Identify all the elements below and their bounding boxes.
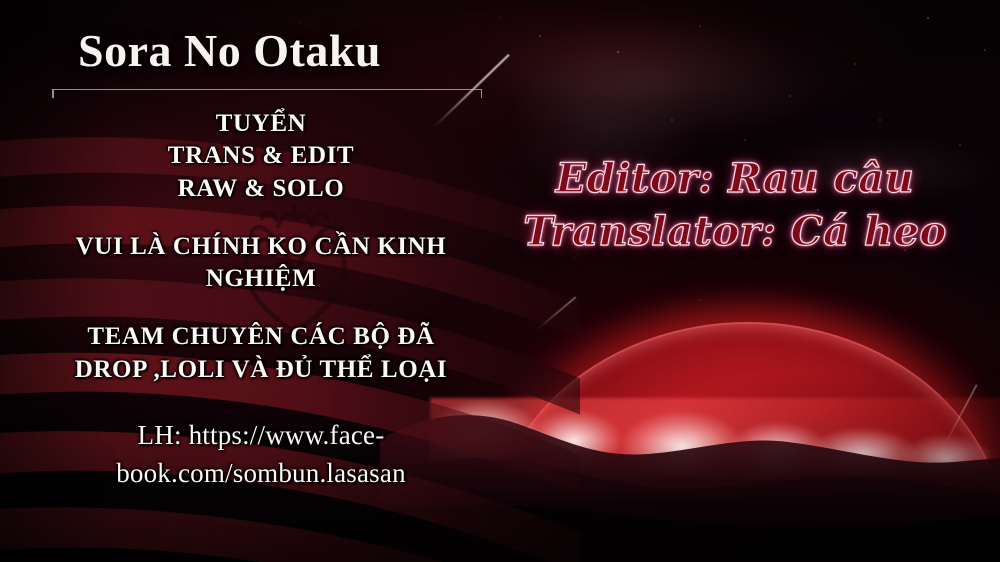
credits-banner: Sora No Otaku TUYỂN TRANS & EDIT RAW & S… (0, 0, 1000, 562)
title-divider (52, 89, 482, 98)
recruitment-group-specialty: TEAM CHUYÊN CÁC BỘ ĐÃ DROP ,LOLI VÀ ĐỦ T… (28, 321, 494, 386)
recruit-line-6: TEAM CHUYÊN CÁC BỘ ĐÃ (28, 321, 494, 353)
contact-line-1: LH: https://www.face- (28, 416, 494, 454)
contact-link[interactable]: LH: https://www.face- book.com/sombun.la… (28, 416, 494, 493)
recruit-line-4: VUI LÀ CHÍNH KO CẦN KINH (28, 231, 494, 263)
recruit-line-2: TRANS & EDIT (28, 140, 494, 172)
contact-line-2: book.com/sombun.lasasan (28, 454, 494, 492)
recruitment-group-roles: TUYỂN TRANS & EDIT RAW & SOLO (28, 108, 494, 205)
recruit-line-1: TUYỂN (28, 108, 494, 140)
recruit-line-7: DROP ,LOLI VÀ ĐỦ THỂ LOẠI (28, 354, 494, 386)
editor-credit: Editor: Rau câu (500, 152, 970, 205)
credits-block: Editor: Rau câu Translator: Cá heo (500, 152, 970, 258)
recruitment-text-block: TUYỂN TRANS & EDIT RAW & SOLO VUI LÀ CHÍ… (28, 108, 494, 492)
shooting-star-small (536, 297, 577, 331)
recruitment-group-nofexp: VUI LÀ CHÍNH KO CẦN KINH NGHIỆM (28, 231, 494, 296)
page-title: Sora No Otaku (78, 24, 381, 77)
translator-credit: Translator: Cá heo (500, 205, 970, 258)
recruit-line-5: NGHIỆM (28, 263, 494, 295)
recruit-line-3: RAW & SOLO (28, 173, 494, 205)
